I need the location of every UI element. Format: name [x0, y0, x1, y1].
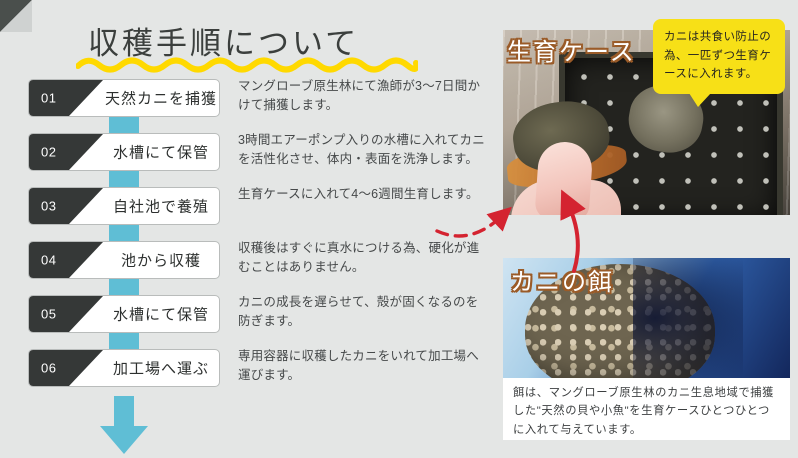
step-label: 加工場へ運ぶ	[103, 358, 219, 379]
squiggle-underline-icon	[76, 54, 418, 74]
step-number: 05	[41, 307, 56, 322]
step-card-03[interactable]: 03 自社池で養殖	[28, 187, 220, 225]
step-number: 06	[41, 361, 56, 376]
step-connector-bar	[109, 333, 139, 349]
step-label: 自社池で養殖	[103, 196, 219, 217]
step-number: 03	[41, 199, 56, 214]
step-number: 01	[41, 91, 56, 106]
callout-tail	[689, 93, 711, 107]
step-card-02[interactable]: 02 水槽にて保管	[28, 133, 220, 171]
process-steps-panel: 収穫手順について 01 天然カニを捕獲 マングローブ原生林にて漁師が3〜7日間か…	[0, 0, 492, 458]
step-label: 天然カニを捕獲	[103, 88, 219, 109]
step-row[interactable]: 03 自社池で養殖 生育ケースに入れて4〜6週間生育します。	[0, 187, 492, 241]
corner-fold-light	[0, 0, 32, 32]
photo-finger	[534, 140, 593, 215]
photo-water-shadow	[633, 258, 743, 378]
step-connector-bar	[109, 171, 139, 187]
growing-case-label: 生育ケース	[507, 32, 636, 67]
step-number: 02	[41, 145, 56, 160]
corner-fold-icon	[0, 0, 32, 32]
step-card-01[interactable]: 01 天然カニを捕獲	[28, 79, 220, 117]
step-label: 池から収穫	[103, 250, 219, 271]
step-number: 04	[41, 253, 56, 268]
step-label: 水槽にて保管	[103, 142, 219, 163]
step-description: マングローブ原生林にて漁師が3〜7日間かけて捕獲します。	[238, 77, 486, 116]
step-row[interactable]: 02 水槽にて保管 3時間エアーポンプ入りの水槽に入れてカニを活性化させ、体内・…	[0, 133, 492, 187]
crab-feed-caption-text: 餌は、マングローブ原生林のカニ生息地域で捕獲した"天然の貝や小魚"を生育ケースひ…	[513, 384, 780, 439]
step-card-06[interactable]: 06 加工場へ運ぶ	[28, 349, 220, 387]
callout-text: カニは共食い防止の為、一匹ずつ生育ケースに入れます。	[664, 28, 775, 84]
step-connector-bar	[109, 117, 139, 133]
step-row[interactable]: 05 水槽にて保管 カニの成長を遅らせて、殻が固くなるのを防ぎます。	[0, 295, 492, 349]
step-card-04[interactable]: 04 池から収穫	[28, 241, 220, 279]
step-description: 専用容器に収穫したカニをいれて加工場へ運びます。	[238, 347, 486, 386]
step-description: 3時間エアーポンプ入りの水槽に入れてカニを活性化させ、体内・表面を洗浄します。	[238, 131, 486, 170]
step-description: 収穫後はすぐに真水につける為、硬化が進むことはありません。	[238, 239, 486, 278]
step-card-05[interactable]: 05 水槽にて保管	[28, 295, 220, 333]
crab-feed-label: カニの餌	[510, 262, 614, 297]
photos-panel: 生育ケース カニは共食い防止の為、一匹ずつ生育ケースに入れます。 カニの餌 餌は…	[492, 0, 798, 458]
step-connector-bar	[109, 225, 139, 241]
down-arrow-icon	[94, 396, 154, 454]
step-description: カニの成長を遅らせて、殻が固くなるのを防ぎます。	[238, 293, 486, 332]
crab-feed-caption: 餌は、マングローブ原生林のカニ生息地域で捕獲した"天然の貝や小魚"を生育ケースひ…	[503, 378, 790, 440]
step-description: 生育ケースに入れて4〜6週間生育します。	[238, 185, 486, 204]
callout-bubble: カニは共食い防止の為、一匹ずつ生育ケースに入れます。	[653, 19, 785, 94]
step-label: 水槽にて保管	[103, 304, 219, 325]
steps-list: 01 天然カニを捕獲 マングローブ原生林にて漁師が3〜7日間かけて捕獲します。 …	[0, 79, 492, 403]
step-row[interactable]: 01 天然カニを捕獲 マングローブ原生林にて漁師が3〜7日間かけて捕獲します。	[0, 79, 492, 133]
step-connector-bar	[109, 279, 139, 295]
step-row[interactable]: 04 池から収穫 収穫後はすぐに真水につける為、硬化が進むことはありません。	[0, 241, 492, 295]
step-row[interactable]: 06 加工場へ運ぶ 専用容器に収穫したカニをいれて加工場へ運びます。	[0, 349, 492, 403]
